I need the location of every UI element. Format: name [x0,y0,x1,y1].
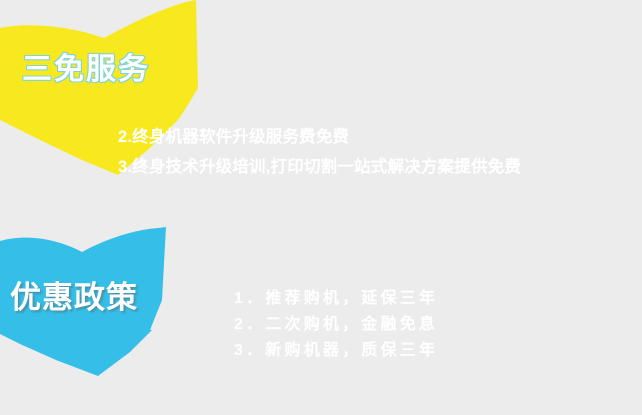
preferential-policy-text-block: 1．推荐购机，延保三年 2．二次购机，金融免息 3．新购机器，质保三年 [234,286,438,364]
preferential-policy-title: 优惠政策 [10,272,138,317]
policy-line-2: 2．二次购机，金融免息 [234,312,438,338]
policy-line-3: 3．新购机器，质保三年 [234,338,438,364]
policy-line-1: 1．推荐购机，延保三年 [234,286,438,312]
poster-canvas: 三免服务 2.终身机器软件升级服务费免费 3.终身技术升级培训,打印切割一站式解… [0,0,642,415]
